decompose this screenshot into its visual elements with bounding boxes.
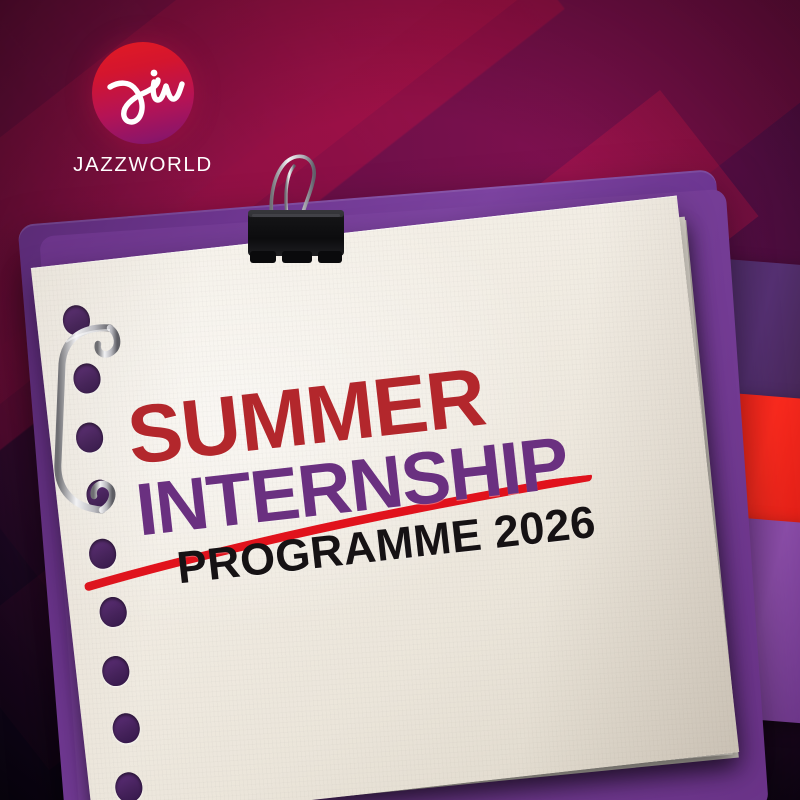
punched-hole xyxy=(111,712,141,745)
jazzworld-jw-monogram-icon xyxy=(92,42,194,144)
punched-hole xyxy=(114,771,144,800)
brand-logo: JAZZWORLD xyxy=(58,42,228,176)
poster-canvas: SUMMER INTERNSHIP PROGRAMME 2026 xyxy=(0,0,800,800)
headline-block: SUMMER INTERNSHIP PROGRAMME 2026 xyxy=(124,338,683,594)
punched-hole xyxy=(98,595,128,628)
brand-name-label: JAZZWORLD xyxy=(58,155,228,176)
metal-ring-binder-clip-icon xyxy=(44,312,164,532)
punched-hole xyxy=(101,654,131,687)
black-binder-clip-icon xyxy=(228,152,358,282)
